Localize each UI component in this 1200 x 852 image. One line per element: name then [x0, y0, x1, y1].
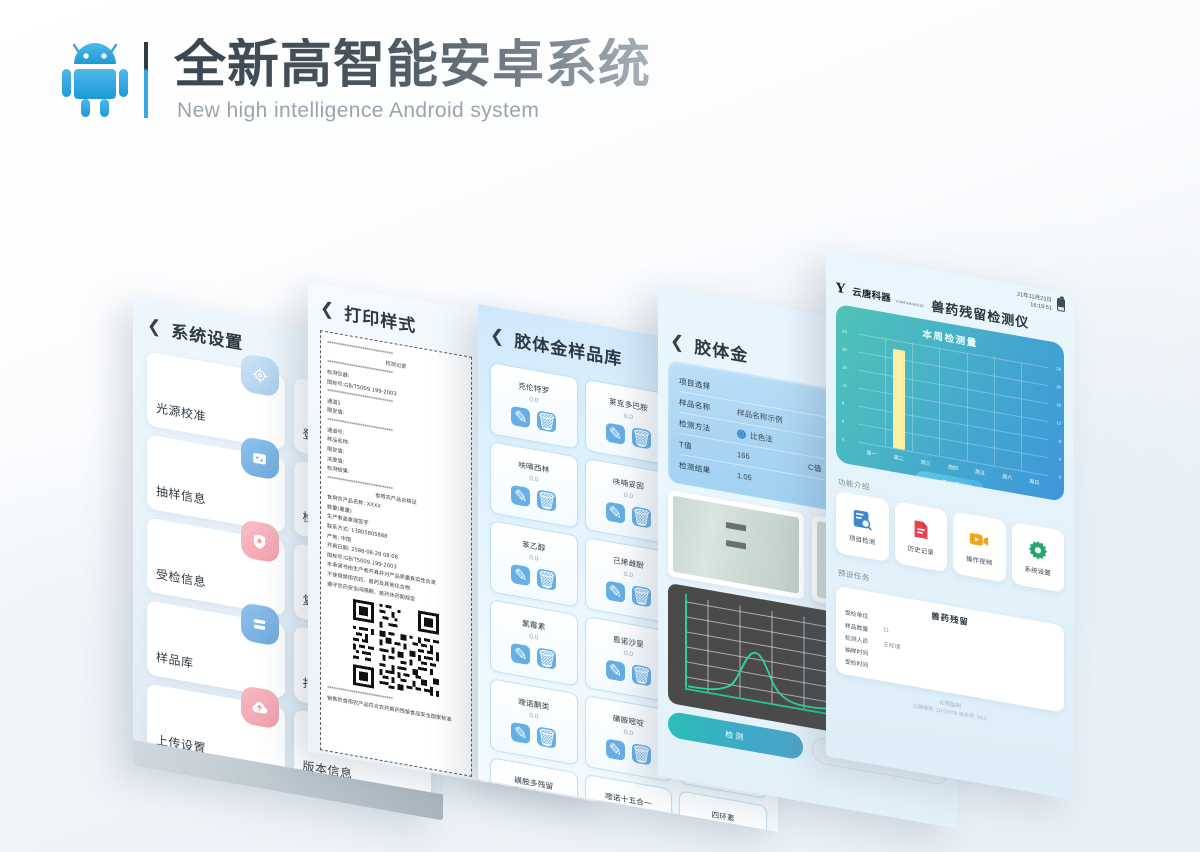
chart-gridline: [912, 343, 913, 451]
sample-name: 喹诺十五合一: [605, 790, 652, 809]
sample-name: 莱克多巴胺: [609, 396, 648, 414]
chart-gridline: [885, 338, 886, 446]
screenshot-stage: ❮ 系统设置 光源校准 登录保护: [0, 0, 1200, 852]
settings-item-label: 受检信息: [156, 565, 206, 602]
function-label: 历史记录: [908, 543, 934, 557]
gear-icon: [1027, 537, 1049, 563]
sample-value: 0.0: [624, 492, 633, 501]
trash-icon[interactable]: 🗑: [632, 743, 651, 765]
chart-gridline: [1021, 362, 1022, 470]
chart-gridline: [858, 423, 1048, 457]
edit-icon[interactable]: ✎: [511, 722, 530, 744]
receipt-preview: ****************************** 检测记录 ****…: [320, 330, 472, 777]
chart-y-tick: 24: [842, 328, 847, 334]
library-titlebar: ❮ 胶体金样品库: [490, 322, 622, 370]
chart-y-tick: 12: [1056, 420, 1061, 426]
edit-icon[interactable]: ✎: [511, 564, 530, 586]
trash-icon[interactable]: 🗑: [537, 410, 556, 432]
brand-name-en: YUNTANGKEQI: [895, 300, 924, 309]
function-card-video[interactable]: 操作视频: [953, 511, 1006, 582]
edit-icon[interactable]: ✎: [511, 406, 530, 428]
chevron-left-icon[interactable]: ❮: [490, 326, 504, 346]
print-title: 打印样式: [344, 299, 416, 337]
trash-icon[interactable]: 🗑: [537, 647, 556, 669]
history-doc-icon: [910, 517, 932, 543]
sample-value: 0.0: [529, 475, 538, 484]
sample-name: 苯乙醇: [522, 539, 545, 554]
chart-gridline: [858, 387, 1048, 421]
sample-card[interactable]: 喹诺十五合一 0.0 ✎🗑: [585, 774, 673, 832]
chart-y-tick: 0: [842, 436, 844, 441]
chart-y-tick: 20: [1056, 384, 1061, 390]
chart-x-tick: 周三: [921, 458, 931, 467]
function-label: 系统设置: [1025, 564, 1051, 578]
sample-card[interactable]: 苯乙醇 0.0 ✎🗑: [490, 520, 578, 607]
sample-name: 氯霉素: [522, 618, 545, 633]
function-card-project-detect[interactable]: 项目检测: [836, 491, 889, 562]
chart-y-tick: 16: [1056, 402, 1061, 408]
trash-icon[interactable]: 🗑: [632, 822, 651, 832]
cg-title: 胶体金: [694, 332, 748, 367]
sample-name: 克伦特罗: [518, 380, 549, 396]
chart-y-tick: 4: [842, 418, 844, 423]
function-card-history[interactable]: 历史记录: [895, 501, 948, 572]
sample-value: 0.0: [719, 824, 728, 831]
chart-x-tick: 周二: [894, 454, 904, 463]
sidebar-item-sampling-info[interactable]: 抽样信息: [147, 434, 285, 532]
chart-y-tick: 24: [1056, 366, 1061, 372]
function-card-settings[interactable]: 系统设置: [1012, 521, 1065, 592]
qr-code: [353, 599, 439, 700]
function-label: 操作视频: [966, 553, 992, 567]
chart-y-tick: 0: [1059, 474, 1061, 479]
sample-name: 呋喃妥因: [613, 476, 644, 492]
sample-icon: [241, 436, 279, 481]
sample-value: 0.0: [529, 791, 538, 800]
chart-y-tick: 8: [1059, 438, 1061, 443]
sample-name: 四环素: [711, 809, 734, 824]
edit-icon[interactable]: ✎: [606, 423, 625, 445]
chart-bar: [893, 349, 905, 450]
sample-card[interactable]: 喹诺酮类 0.0 ✎🗑: [490, 678, 578, 765]
sample-value: 0.0: [624, 413, 633, 422]
edit-icon[interactable]: ✎: [606, 739, 625, 761]
trash-icon[interactable]: 🗑: [632, 506, 651, 528]
sample-value: 0.0: [624, 571, 633, 580]
sample-card[interactable]: 呋喃西林 0.0 ✎🗑: [490, 441, 578, 528]
chart-x-tick: 周一: [867, 449, 877, 458]
chart-x-tick: 周日: [1029, 478, 1039, 487]
sidebar-item-light-calibration[interactable]: 光源校准: [147, 351, 285, 449]
trash-icon[interactable]: 🗑: [537, 489, 556, 511]
sample-value: 0.0: [529, 554, 538, 563]
trash-icon[interactable]: 🗑: [632, 427, 651, 449]
edit-icon[interactable]: ✎: [606, 502, 625, 524]
sample-card[interactable]: 氯霉素 0.0 ✎🗑: [490, 599, 578, 686]
database-icon: [241, 602, 279, 647]
chart-gridline: [858, 369, 1048, 403]
sample-value: 0.0: [529, 712, 538, 721]
chart-x-tick: 周五: [975, 468, 985, 477]
test-strip-photo: [668, 490, 804, 600]
settings-item-label: 样品库: [156, 648, 194, 683]
sample-value: 0.0: [624, 729, 633, 738]
trash-icon[interactable]: 🗑: [632, 664, 651, 686]
print-option-row[interactable]: 是否开启受检人员联系方式: [480, 802, 598, 804]
library-title: 胶体金样品库: [514, 326, 622, 370]
sample-name: 呋喃西林: [518, 459, 549, 475]
chart-gridline: [858, 405, 1048, 439]
radio-selected-icon[interactable]: [737, 428, 746, 439]
settings-item-label: 光源校准: [156, 399, 206, 436]
sample-name: 己烯雌酚: [613, 555, 644, 571]
sidebar-item-sample-library[interactable]: 样品库: [147, 600, 285, 698]
function-label: 项目检测: [849, 533, 875, 547]
chart-y-tick: 4: [1059, 456, 1061, 461]
video-icon: [968, 527, 990, 553]
shield-search-icon: [241, 519, 279, 564]
chart-x-tick: 周四: [948, 463, 958, 472]
trash-icon[interactable]: 🗑: [537, 805, 556, 827]
trash-icon[interactable]: 🗑: [537, 726, 556, 748]
edit-icon[interactable]: ✎: [606, 818, 625, 832]
chevron-left-icon[interactable]: ❮: [147, 316, 161, 336]
edit-icon[interactable]: ✎: [511, 485, 530, 507]
target-icon: [241, 353, 279, 398]
chevron-left-icon[interactable]: ❮: [670, 332, 684, 352]
brand-logo-mark: Y: [836, 282, 845, 297]
chart-x-tick: 周六: [1002, 473, 1012, 482]
chart-y-tick: 8: [842, 400, 844, 405]
sidebar-item-inspected-info[interactable]: 受检信息: [147, 517, 285, 615]
chart-y-tick: 16: [842, 364, 847, 370]
chart-y-tick: 20: [842, 346, 847, 352]
battery-icon: [1057, 298, 1065, 312]
sample-name: 恩诺沙星: [613, 634, 644, 650]
sample-value: 0.0: [529, 396, 538, 405]
chart-y-tick: 12: [842, 382, 847, 388]
sample-value: 0.0: [529, 633, 538, 642]
edit-icon[interactable]: ✎: [511, 801, 530, 823]
sample-name: 磺胺嘧啶: [613, 713, 644, 729]
edit-icon[interactable]: ✎: [606, 581, 625, 603]
brand-name-cn: 云唐科器: [852, 286, 891, 304]
sample-card[interactable]: 克伦特罗 0.0 ✎🗑: [490, 362, 578, 449]
cg-field-key: 检测结果: [679, 459, 737, 480]
chart-gridline: [994, 357, 995, 465]
settings-item-label: 抽样信息: [156, 482, 206, 519]
task-value: 11: [883, 627, 889, 637]
detect-book-icon: [851, 506, 873, 532]
trash-icon[interactable]: 🗑: [632, 585, 651, 607]
cloud-upload-icon: [241, 685, 279, 730]
trash-icon[interactable]: 🗑: [537, 568, 556, 590]
chart-gridline: [939, 348, 940, 456]
chart-gridline: [967, 353, 968, 461]
settings-title: 系统设置: [171, 317, 243, 355]
sample-value: 0.0: [624, 650, 633, 659]
edit-icon[interactable]: ✎: [511, 643, 530, 665]
chevron-left-icon[interactable]: ❮: [320, 299, 334, 319]
sample-name: 喹诺酮类: [518, 696, 549, 712]
screen-dashboard: 21年11月23日 16:19:51 Y 云唐科器 YUNTANGKEQI 兽药…: [826, 251, 1074, 800]
edit-icon[interactable]: ✎: [606, 660, 625, 682]
sample-value: 0.0: [624, 808, 633, 817]
